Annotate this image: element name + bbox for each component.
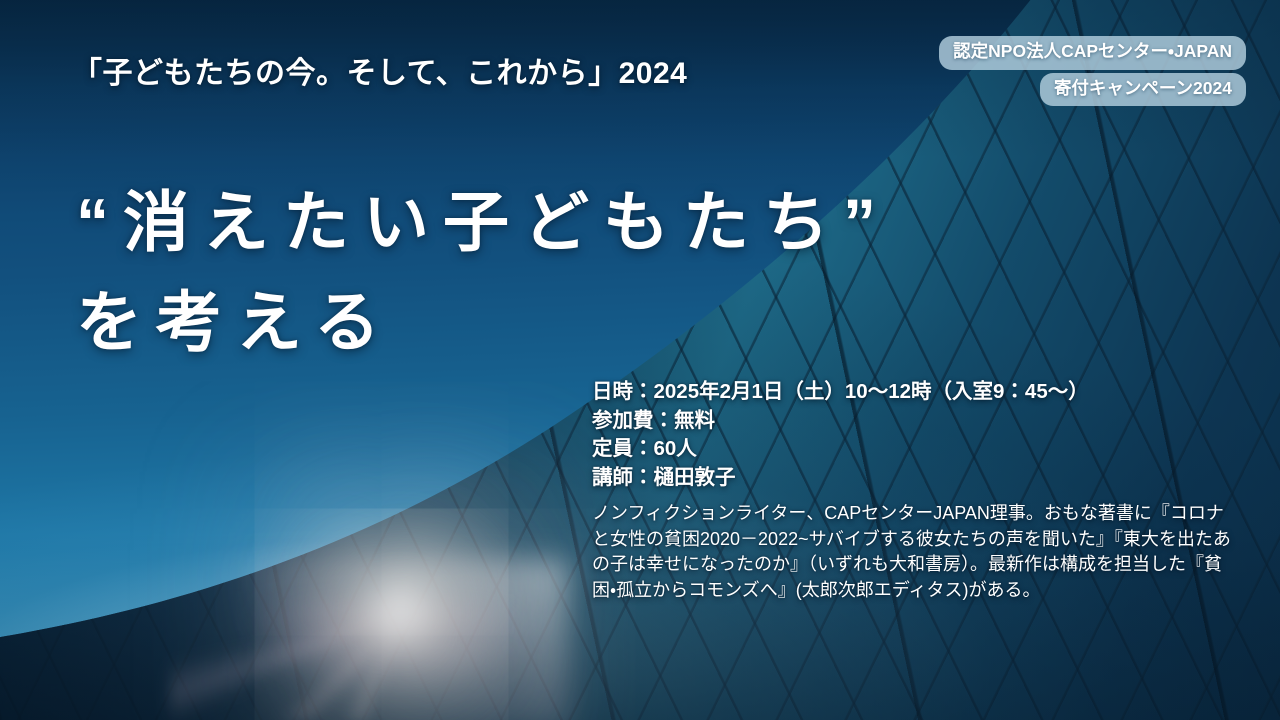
detail-speaker: 講師：樋田敦子 [592,464,1252,493]
poster-content: 「子どもたちの今。そして、これから」2024 認定NPO法人CAPセンター・JA… [0,0,1280,720]
event-poster: 「子どもたちの今。そして、これから」2024 認定NPO法人CAPセンター・JA… [0,0,1280,720]
detail-fee: 参加費：無料 [592,407,1252,436]
page-title: “消えたい子どもたち” を考える [76,172,890,373]
headline-line-1: “消えたい子どもたち” [76,185,890,259]
badge-campaign-name: 寄付キャンペーン2024 [1040,73,1246,107]
detail-datetime: 日時：2025年2月1日（土）10〜12時（入室9：45〜） [592,378,1252,407]
event-details: 日時：2025年2月1日（土）10〜12時（入室9：45〜） 参加費：無料 定員… [592,378,1252,603]
detail-capacity: 定員：60人 [592,435,1252,464]
campaign-eyebrow-title: 「子どもたちの今。そして、これから」2024 [72,48,687,92]
speaker-biography: ノンフィクションライター、CAPセンターJAPAN理事。おもな著書に『コロナと女… [592,501,1238,603]
headline-line-2: を考える [76,272,890,372]
organization-badge-group: 認定NPO法人CAPセンター・JAPAN 寄付キャンペーン2024 [939,36,1246,106]
badge-organization-name: 認定NPO法人CAPセンター・JAPAN [939,36,1246,70]
